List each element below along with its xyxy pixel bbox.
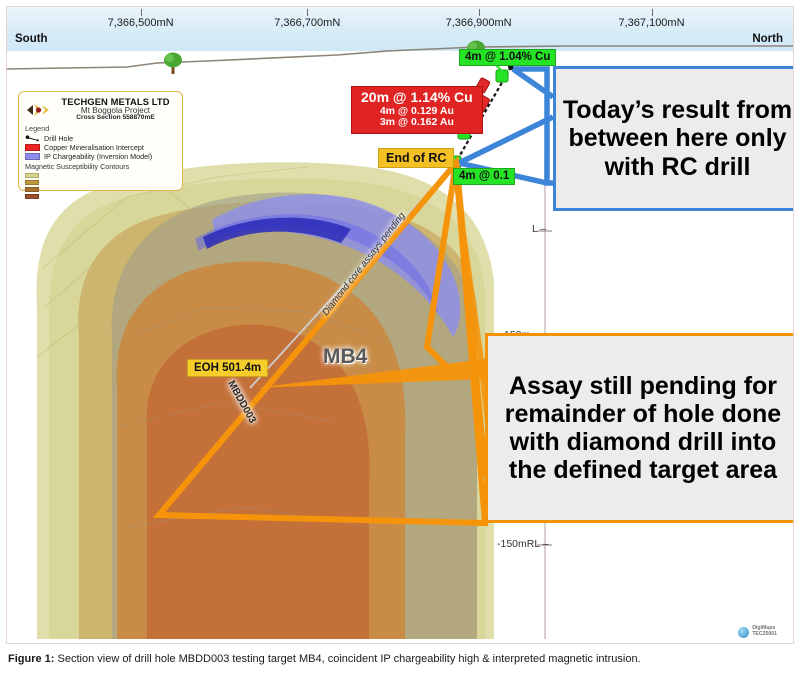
legend-contours-heading: Magnetic Susceptibility Contours — [25, 162, 176, 171]
drill-hole-icon — [25, 135, 40, 142]
end-of-rc-label: End of RC — [378, 148, 454, 168]
contour-swatch — [25, 180, 39, 186]
assay-main-grade: 20m @ 1.14% Cu — [361, 90, 473, 106]
target-name-label: MB4 — [323, 345, 367, 369]
legend-item-label: IP Chargeability (Inversion Model) — [44, 152, 152, 161]
legend-heading: Legend — [25, 124, 176, 133]
section-name: Cross Section 558870mE — [55, 115, 176, 122]
assay-label-main: 20m @ 1.14% Cu 4m @ 0.129 Au 3m @ 0.162 … — [351, 86, 483, 134]
watermark: DigiMaps TEC25001 — [738, 626, 777, 638]
techgen-logo-icon — [25, 100, 51, 120]
legend-panel: TECHGEN METALS LTD Mt Boggola Project Cr… — [18, 91, 183, 191]
rl-label: -150mRL – — [497, 538, 549, 550]
callout-today-result: Today’s result from between here only wi… — [553, 66, 794, 211]
rl-label: L – — [532, 223, 546, 235]
contour-swatch — [25, 173, 39, 179]
assay-gold-line-2: 3m @ 0.162 Au — [361, 117, 473, 129]
callout-assay-pending: Assay still pending for remainder of hol… — [485, 333, 794, 523]
legend-title-block: TECHGEN METALS LTD Mt Boggola Project Cr… — [55, 97, 176, 122]
contour-swatch — [25, 187, 39, 193]
assay-label-shallow: 4m @ 1.04% Cu — [459, 49, 556, 66]
figure-panel: 7,366,500mN 7,366,700mN 7,366,900mN 7,36… — [6, 6, 794, 644]
assay-label-lower: 4m @ 0.1 — [453, 168, 515, 185]
globe-icon — [738, 627, 749, 638]
ip-swatch — [25, 153, 40, 160]
tree-icon — [162, 51, 184, 75]
eoh-label: EOH 501.4m — [187, 359, 268, 377]
legend-item-label: Copper Mineralisation Intercept — [44, 143, 144, 152]
contour-swatch — [25, 194, 39, 200]
legend-item-label: Drill Hole — [44, 134, 73, 143]
figure-caption: Figure 1: Section view of drill hole MBD… — [8, 652, 792, 668]
callout-orange-text: Assay still pending for remainder of hol… — [494, 372, 792, 485]
figure-number: Figure 1: — [8, 653, 54, 665]
legend-header: TECHGEN METALS LTD Mt Boggola Project Cr… — [25, 97, 176, 122]
figure-caption-text: Section view of drill hole MBDD003 testi… — [54, 653, 640, 665]
legend-item-copper: Copper Mineralisation Intercept — [25, 143, 176, 151]
watermark-text: DigiMaps TEC25001 — [752, 626, 777, 638]
legend-item-drill-hole: Drill Hole — [25, 134, 176, 142]
copper-swatch — [25, 144, 40, 151]
watermark-line-2: TEC25001 — [752, 632, 777, 638]
legend-item-ip: IP Chargeability (Inversion Model) — [25, 152, 176, 160]
callout-blue-text: Today’s result from between here only wi… — [562, 96, 793, 181]
